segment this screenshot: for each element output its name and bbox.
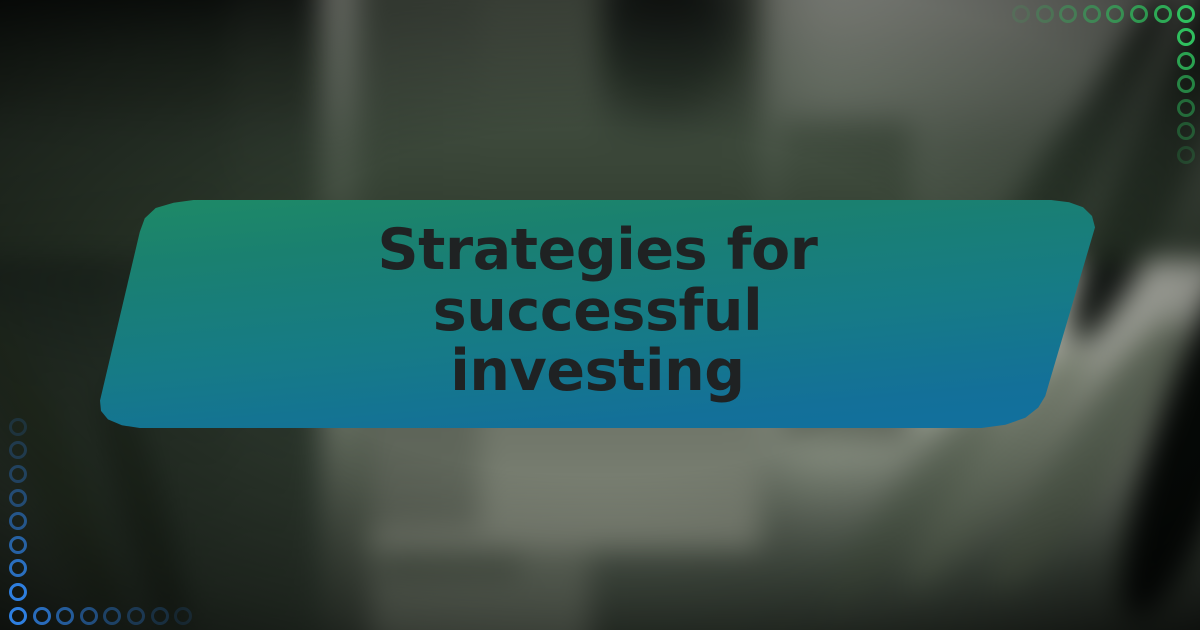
title-card: Strategies for successful investing	[100, 200, 1095, 428]
decorative-dot	[1177, 146, 1195, 164]
decorative-dot	[151, 607, 169, 625]
decorative-dot	[1012, 5, 1030, 23]
page-title: Strategies for successful investing	[278, 220, 918, 409]
decorative-dot	[9, 418, 27, 436]
slide-canvas: Strategies for successful investing	[0, 0, 1200, 630]
decorative-dot	[1154, 5, 1172, 23]
decorative-dot	[9, 583, 27, 601]
decorative-dot	[9, 465, 27, 483]
decorative-dot	[9, 536, 27, 554]
decorative-dot	[9, 607, 27, 625]
decorative-dot	[127, 607, 145, 625]
decorative-dot	[33, 607, 51, 625]
decorative-dot	[1130, 5, 1148, 23]
decorative-dot	[1177, 99, 1195, 117]
decorative-dot	[9, 489, 27, 507]
decorative-dot	[1036, 5, 1054, 23]
decorative-dot	[1177, 52, 1195, 70]
decorative-dot	[80, 607, 98, 625]
decorative-dot	[1083, 5, 1101, 23]
decorative-dot	[1177, 28, 1195, 46]
